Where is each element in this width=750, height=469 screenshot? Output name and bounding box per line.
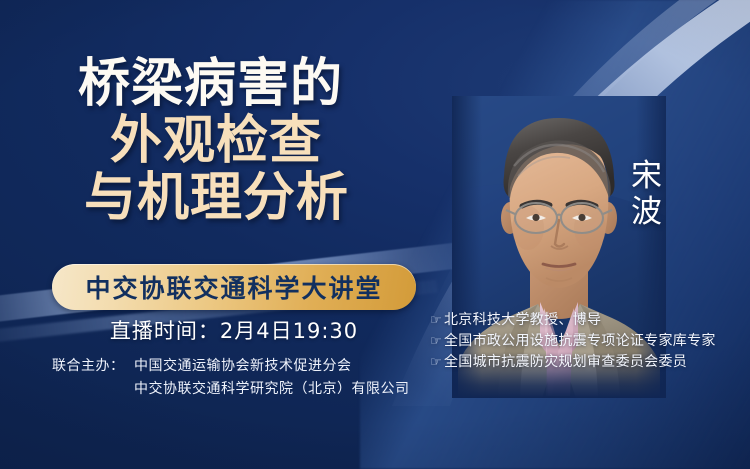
organizers-block: 联合主办： 中国交通运输协会新技术促进分会 中交协联交通科学研究院（北京）有限公… bbox=[52, 355, 440, 401]
pointing-hand-icon: ☞ bbox=[430, 331, 442, 352]
organizer-line-1: 中国交通运输协会新技术促进分会 bbox=[134, 355, 410, 378]
speaker-name-char-2: 波 bbox=[624, 194, 670, 230]
series-badge: 中交协联交通科学大讲堂 bbox=[52, 264, 416, 310]
speaker-name: 宋 波 bbox=[624, 158, 670, 230]
pointing-hand-icon: ☞ bbox=[430, 310, 442, 331]
webinar-poster: 桥梁病害的 外观检查 与机理分析 中交协联交通科学大讲堂 直播时间：2月4日19… bbox=[0, 0, 750, 469]
credential-text: 北京科技大学教授、博导 bbox=[444, 310, 601, 331]
credential-text: 全国城市抗震防灾规划审查委员会委员 bbox=[444, 352, 687, 373]
title-line-2: 外观检查 bbox=[0, 113, 440, 170]
series-badge-label: 中交协联交通科学大讲堂 bbox=[85, 269, 382, 305]
credential-text: 全国市政公用设施抗震专项论证专家库专家 bbox=[444, 331, 716, 352]
credential-item: ☞ 北京科技大学教授、博导 bbox=[430, 310, 746, 331]
broadcast-time: 直播时间：2月4日19:30 bbox=[52, 315, 416, 345]
page-title: 桥梁病害的 外观检查 与机理分析 bbox=[0, 56, 440, 227]
speaker-name-char-1: 宋 bbox=[624, 158, 670, 194]
credential-item: ☞ 全国市政公用设施抗震专项论证专家库专家 bbox=[430, 331, 746, 352]
speaker-credentials: ☞ 北京科技大学教授、博导 ☞ 全国市政公用设施抗震专项论证专家库专家 ☞ 全国… bbox=[430, 310, 746, 373]
pointing-hand-icon: ☞ bbox=[430, 352, 442, 373]
title-line-3: 与机理分析 bbox=[0, 170, 440, 227]
title-line-1: 桥梁病害的 bbox=[0, 56, 440, 113]
organizers-label: 联合主办： bbox=[52, 355, 134, 401]
credential-item: ☞ 全国城市抗震防灾规划审查委员会委员 bbox=[430, 352, 746, 373]
organizer-line-2: 中交协联交通科学研究院（北京）有限公司 bbox=[134, 378, 410, 401]
